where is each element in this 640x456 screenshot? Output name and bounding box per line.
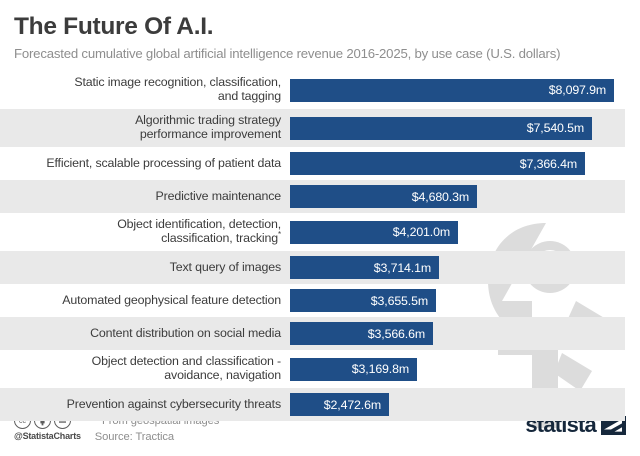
chart-subtitle: Forecasted cumulative global artificial … [14,46,626,61]
chart-bar-area: $3,169.8m [290,350,625,388]
chart-row: Algorithmic trading strategy performance… [0,109,625,147]
chart-bar[interactable]: $3,169.8m [290,358,417,381]
chart-bar-value: $7,540.5m [527,121,584,135]
chart-bar-value: $3,655.5m [371,294,428,308]
chart-row: Automated geophysical feature detection$… [0,284,625,317]
chart-bar-area: $4,680.3m [290,180,625,213]
chart-bar[interactable]: $4,201.0m [290,221,458,244]
chart-row: Prevention against cybersecurity threats… [0,388,625,421]
chart-row: Object detection and classification - av… [0,350,625,388]
chart-bar[interactable]: $7,366.4m [290,152,585,175]
chart-bar[interactable]: $4,680.3m [290,185,477,208]
chart-row-label: Content distribution on social media [0,327,290,341]
chart-bar-value: $4,680.3m [412,190,469,204]
chart-bar-value: $4,201.0m [393,225,450,239]
chart-bar-area: $7,540.5m [290,109,625,147]
chart-row-label: Efficient, scalable processing of patien… [0,157,290,171]
chart-bar-area: $3,714.1m [290,251,625,284]
chart-bar-area: $3,655.5m [290,284,625,317]
chart-bar-value: $3,566.6m [368,327,425,341]
chart-row-label: Predictive maintenance [0,190,290,204]
chart-row: Content distribution on social media$3,5… [0,317,625,350]
chart-bar[interactable]: $3,566.6m [290,322,433,345]
chart-bar-area: $4,201.0m [290,213,625,251]
chart-bar-area: $2,472.6m [290,388,625,421]
chart-bar-value: $7,366.4m [520,157,577,171]
footnote-marker: * [278,230,281,239]
chart-bar[interactable]: $8,097.9m [290,79,614,102]
chart-bar-value: $2,472.6m [324,398,381,412]
chart-bar[interactable]: $3,714.1m [290,256,439,279]
infographic-chart: The Future Of A.I. Forecasted cumulative… [0,0,640,456]
chart-row: Predictive maintenance$4,680.3m [0,180,625,213]
chart-bar-area: $3,566.6m [290,317,625,350]
chart-row-label: Object detection and classification - av… [0,355,290,383]
chart-row-label: Algorithmic trading strategy performance… [0,114,290,142]
chart-bar-area: $8,097.9m [290,71,625,109]
chart-row-label: Object identification, detection, classi… [0,218,290,246]
chart-bar[interactable]: $3,655.5m [290,289,436,312]
chart-header: The Future Of A.I. Forecasted cumulative… [0,0,640,61]
chart-bar-value: $3,169.8m [352,362,409,376]
chart-row: Static image recognition, classification… [0,71,625,109]
chart-row: Text query of images$3,714.1m [0,251,625,284]
chart-row-label: Prevention against cybersecurity threats [0,398,290,412]
chart-bar-value: $3,714.1m [374,261,431,275]
source-text: Source: Tractica [95,429,219,445]
chart-row: Object identification, detection, classi… [0,213,625,251]
chart-row-label: Text query of images [0,261,290,275]
chart-row: Efficient, scalable processing of patien… [0,147,625,180]
chart-bar[interactable]: $2,472.6m [290,393,389,416]
page-title: The Future Of A.I. [14,14,626,41]
bar-chart: Static image recognition, classification… [0,71,640,421]
statista-handle: @StatistaCharts [14,431,81,441]
chart-rows: Static image recognition, classification… [0,71,640,421]
chart-row-label: Static image recognition, classification… [0,76,290,104]
chart-bar-area: $7,366.4m [290,147,625,180]
chart-bar-value: $8,097.9m [549,83,606,97]
chart-row-label: Automated geophysical feature detection [0,294,290,308]
chart-bar[interactable]: $7,540.5m [290,117,592,140]
